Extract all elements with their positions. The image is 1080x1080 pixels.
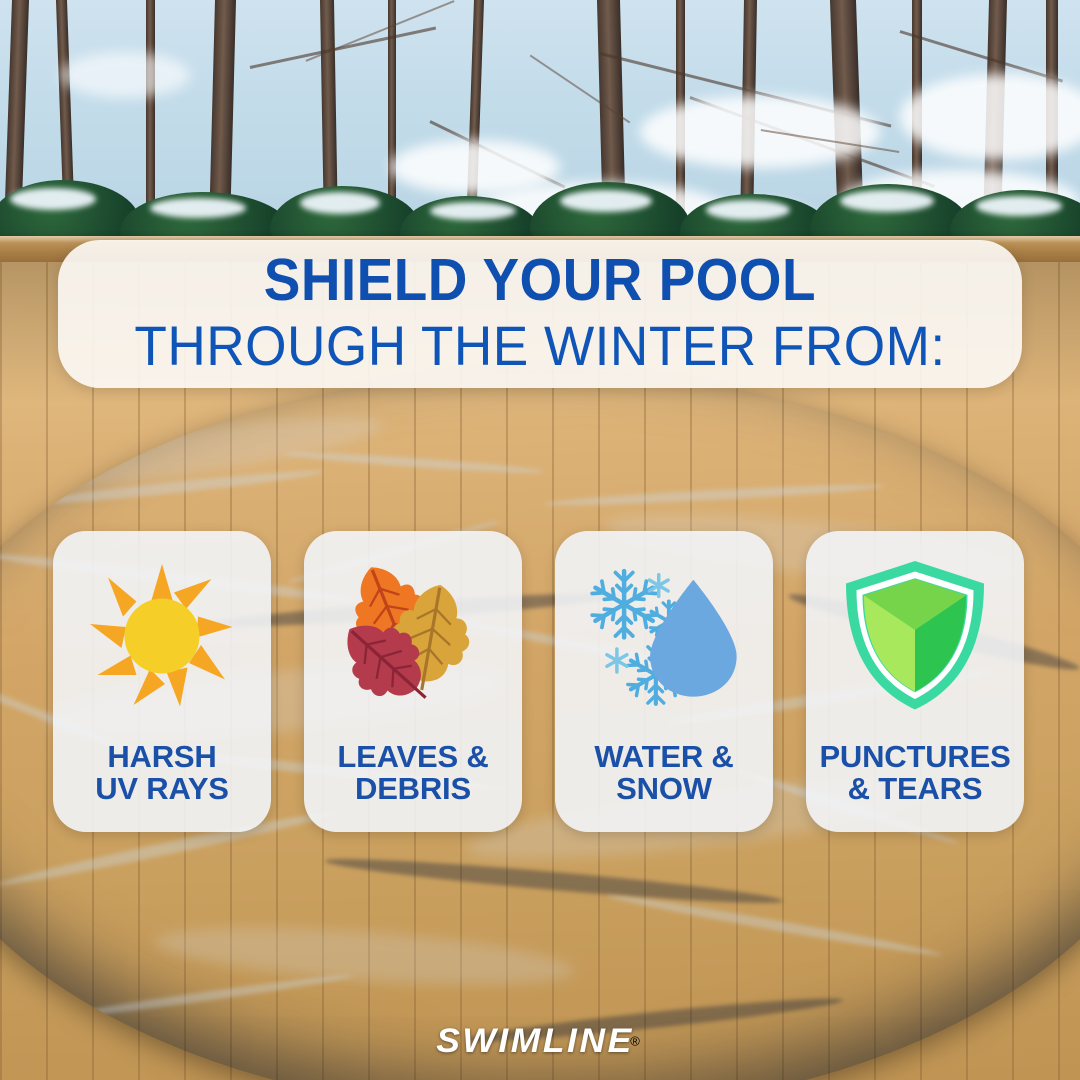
feature-card-label: LEAVES & DEBRIS [337, 741, 488, 819]
promo-image: SHIELD YOUR POOL THROUGH THE WINTER FROM… [0, 0, 1080, 1080]
headline-line-2: THROUGH THE WINTER FROM: [134, 316, 945, 376]
water-droplet-icon [650, 580, 737, 697]
snowflake-large-1 [592, 571, 656, 637]
feature-card-label: WATER & SNOW [594, 741, 733, 819]
snowflake-small-2 [606, 649, 626, 672]
shield-icon [840, 558, 990, 714]
feature-card-row: HARSH UV RAYS [53, 531, 1024, 832]
brand-name: SWIMLINE [436, 1022, 634, 1061]
feature-card-punctures-tears[interactable]: PUNCTURES & TEARS [806, 531, 1024, 832]
feature-card-water-snow[interactable]: WATER & SNOW [555, 531, 773, 832]
snowy-forest-background [0, 0, 1080, 252]
icon-container [806, 531, 1024, 741]
icon-container [555, 531, 773, 741]
icon-container [53, 531, 271, 741]
feature-card-label: PUNCTURES & TEARS [819, 741, 1010, 819]
icon-container [304, 531, 522, 741]
sun-icon [87, 561, 237, 711]
feature-card-leaves-debris[interactable]: LEAVES & DEBRIS [304, 531, 522, 832]
headline-banner: SHIELD YOUR POOL THROUGH THE WINTER FROM… [58, 240, 1022, 388]
water-snow-icon [577, 561, 752, 711]
leaves-icon [333, 561, 493, 711]
headline-line-1: SHIELD YOUR POOL [264, 251, 816, 310]
feature-card-label: HARSH UV RAYS [95, 741, 229, 819]
feature-card-uv-rays[interactable]: HARSH UV RAYS [53, 531, 271, 832]
brand-logo: SWIMLINE® [0, 1022, 1080, 1061]
